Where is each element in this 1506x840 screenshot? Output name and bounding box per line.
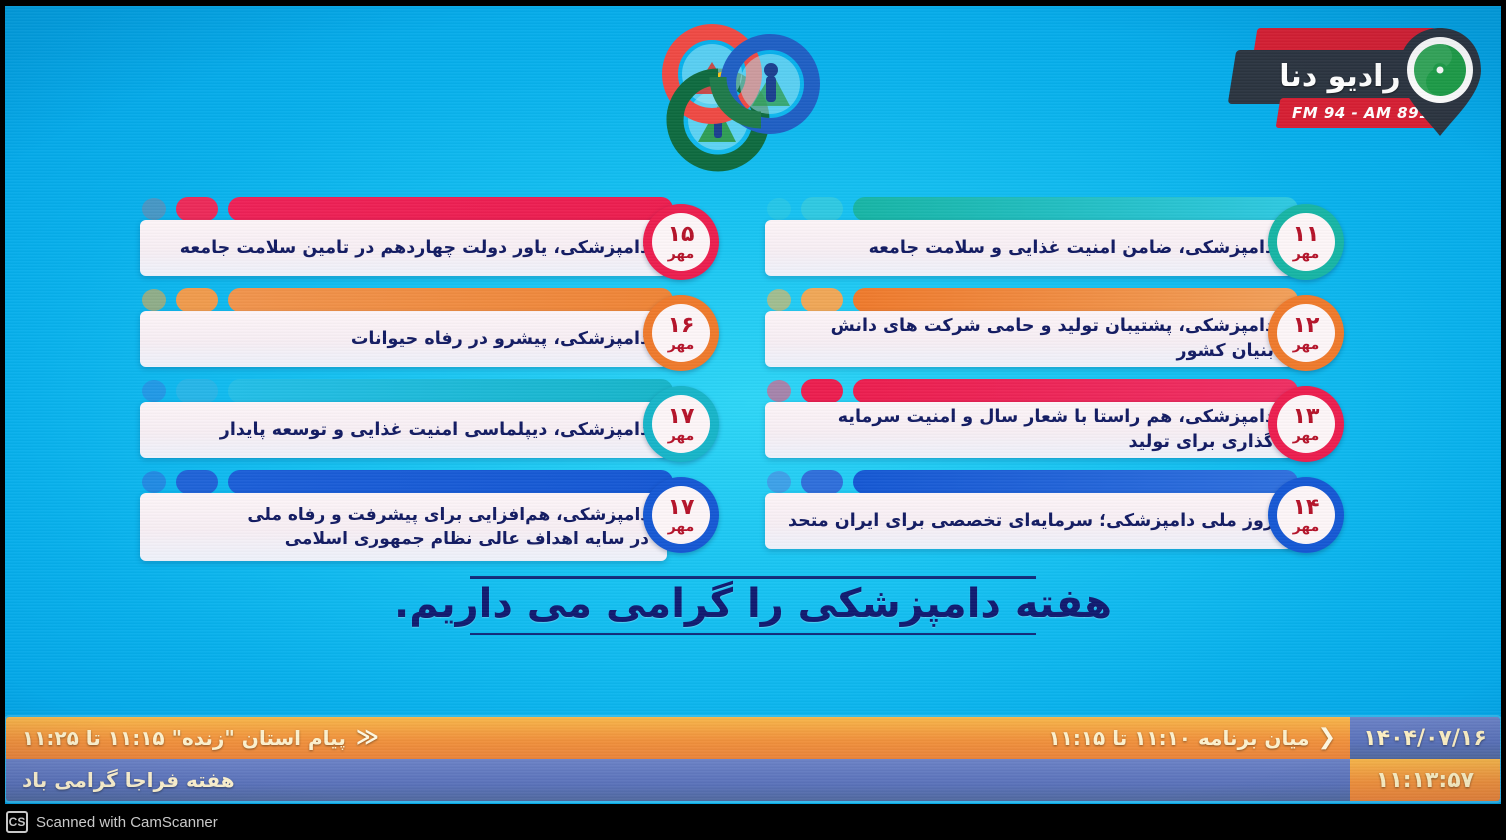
ticker-now-playing-label: پیام استان "زنده" ۱۱:۱۵ تا ۱۱:۲۵	[22, 726, 346, 750]
card-pill-decor	[176, 288, 218, 312]
card-dot-decor	[142, 289, 166, 311]
card-body: دامپزشکی، ضامن امنیت غذایی و سلامت جامعه	[765, 220, 1292, 276]
badge-day-number: ۱۷	[668, 497, 695, 519]
ticker-date: ۱۴۰۴/۰۷/۱۶	[1350, 717, 1500, 759]
card-title: دامپزشکی، هم‌افزایی برای پیشرفت و رفاه م…	[162, 503, 649, 551]
card-day-badge: ۱۲ مهر	[1268, 295, 1344, 371]
ticker-now-playing: ≪ پیام استان "زنده" ۱۱:۱۵ تا ۱۱:۲۵	[6, 717, 1038, 759]
frame-right	[1501, 0, 1506, 840]
camscanner-text: Scanned with CamScanner	[36, 814, 218, 831]
card-color-bar	[228, 288, 673, 312]
headline-text: هفته دامپزشکی را گرامی می داریم.	[394, 579, 1112, 631]
card-dot-decor	[767, 289, 791, 311]
card-pill-decor	[176, 379, 218, 403]
card-color-bar	[853, 379, 1298, 403]
badge-month-name: مهر	[1293, 429, 1320, 443]
letterbox-bottom	[0, 804, 1506, 840]
card-day-badge: ۱۳ مهر	[1268, 386, 1344, 462]
card-color-bar	[228, 470, 673, 494]
schedule-card[interactable]: دامپزشکی، هم‌افزایی برای پیشرفت و رفاه م…	[140, 469, 715, 561]
one-health-emblem-icon	[640, 22, 840, 172]
broadcast-ticker: ۱۴۰۴/۰۷/۱۶ ❮ میان برنامه ۱۱:۱۰ تا ۱۱:۱۵ …	[6, 717, 1500, 801]
frame-top	[0, 0, 1506, 6]
ticker-row-top: ۱۴۰۴/۰۷/۱۶ ❮ میان برنامه ۱۱:۱۰ تا ۱۱:۱۵ …	[6, 717, 1500, 759]
card-title: روز ملی دامپزشکی؛ سرمایه‌ای تخصصی برای ا…	[787, 509, 1274, 534]
schedule-card[interactable]: دامپزشکی، هم راستا با شعار سال و امنیت س…	[765, 378, 1340, 458]
card-title: دامپزشکی، پیشرو در رفاه حیوانات	[162, 327, 649, 352]
badge-month-name: مهر	[668, 429, 695, 443]
card-color-bar	[853, 470, 1298, 494]
card-day-badge: ۱۷ مهر	[643, 386, 719, 462]
card-pill-decor	[176, 470, 218, 494]
schedule-grid: دامپزشکی، ضامن امنیت غذایی و سلامت جامعه…	[140, 196, 1340, 566]
schedule-card[interactable]: دامپزشکی، دیپلماسی امنیت غذایی و توسعه پ…	[140, 378, 715, 458]
card-pill-decor	[176, 197, 218, 221]
ticker-marquee: هفته فراجا گرامی باد	[6, 759, 1350, 801]
schedule-card[interactable]: دامپزشکی، یاور دولت چهاردهم در تامین سلا…	[140, 196, 715, 276]
card-dot-decor	[767, 380, 791, 402]
radio-dena-logo: رادیو دنا FM 94 - AM 891	[1216, 24, 1488, 140]
headline-rule-top	[470, 576, 1036, 579]
card-body: دامپزشکی، پشتیبان تولید و حامی شرکت های …	[765, 311, 1292, 367]
frame-left	[0, 0, 5, 840]
ticker-marquee-label: هفته فراجا گرامی باد	[22, 768, 235, 792]
schedule-column-right: دامپزشکی، ضامن امنیت غذایی و سلامت جامعه…	[765, 196, 1340, 560]
card-color-bar	[853, 197, 1298, 221]
badge-month-name: مهر	[668, 520, 695, 534]
badge-day-number: ۱۳	[1293, 406, 1320, 428]
badge-day-number: ۱۷	[668, 406, 695, 428]
card-body: دامپزشکی، یاور دولت چهاردهم در تامین سلا…	[140, 220, 667, 276]
card-title: دامپزشکی، یاور دولت چهاردهم در تامین سلا…	[162, 236, 649, 261]
ticker-next-up-label: میان برنامه ۱۱:۱۰ تا ۱۱:۱۵	[1048, 726, 1309, 750]
card-title: دامپزشکی، ضامن امنیت غذایی و سلامت جامعه	[787, 236, 1274, 261]
card-body: دامپزشکی، هم راستا با شعار سال و امنیت س…	[765, 402, 1292, 458]
ticker-next-up: ❮ میان برنامه ۱۱:۱۰ تا ۱۱:۱۵	[1038, 717, 1350, 759]
card-dot-decor	[142, 471, 166, 493]
schedule-column-left: دامپزشکی، یاور دولت چهاردهم در تامین سلا…	[140, 196, 715, 572]
badge-day-number: ۱۱	[1293, 224, 1320, 246]
badge-day-number: ۱۲	[1293, 315, 1320, 337]
headline-rule-bottom	[470, 633, 1036, 635]
card-title: دامپزشکی، دیپلماسی امنیت غذایی و توسعه پ…	[162, 418, 649, 443]
card-dot-decor	[142, 198, 166, 220]
chevron-double-left-icon: ≪	[356, 727, 379, 749]
schedule-card[interactable]: دامپزشکی، پشتیبان تولید و حامی شرکت های …	[765, 287, 1340, 367]
card-body: دامپزشکی، هم‌افزایی برای پیشرفت و رفاه م…	[140, 493, 667, 561]
card-day-badge: ۱۵ مهر	[643, 204, 719, 280]
card-day-badge: ۱۱ مهر	[1268, 204, 1344, 280]
badge-day-number: ۱۶	[668, 315, 695, 337]
card-dot-decor	[767, 471, 791, 493]
card-pill-decor	[801, 470, 843, 494]
camscanner-watermark: CS Scanned with CamScanner	[6, 810, 218, 834]
radio-pin-icon	[1396, 26, 1484, 138]
card-pill-decor	[801, 288, 843, 312]
badge-day-number: ۱۴	[1293, 497, 1320, 519]
card-color-bar	[228, 379, 673, 403]
camscanner-logo-icon: CS	[6, 811, 28, 833]
card-color-bar	[228, 197, 673, 221]
ticker-clock: ۱۱:۱۳:۵۷	[1350, 759, 1500, 801]
card-pill-decor	[801, 197, 843, 221]
card-dot-decor	[767, 198, 791, 220]
badge-day-number: ۱۵	[668, 224, 695, 246]
schedule-card[interactable]: دامپزشکی، ضامن امنیت غذایی و سلامت جامعه…	[765, 196, 1340, 276]
schedule-card[interactable]: دامپزشکی، پیشرو در رفاه حیوانات ۱۶ مهر	[140, 287, 715, 367]
chevron-left-icon: ❮	[1318, 727, 1336, 749]
card-dot-decor	[142, 380, 166, 402]
headline-banner: هفته دامپزشکی را گرامی می داریم.	[0, 576, 1506, 635]
card-title: دامپزشکی، هم راستا با شعار سال و امنیت س…	[787, 405, 1274, 455]
ticker-row-bottom: ۱۱:۱۳:۵۷ هفته فراجا گرامی باد	[6, 759, 1500, 801]
badge-month-name: مهر	[668, 338, 695, 352]
card-pill-decor	[801, 379, 843, 403]
card-color-bar	[853, 288, 1298, 312]
card-day-badge: ۱۶ مهر	[643, 295, 719, 371]
card-body: روز ملی دامپزشکی؛ سرمایه‌ای تخصصی برای ا…	[765, 493, 1292, 549]
tv-screen: رادیو دنا FM 94 - AM 891 دامپزشکی، ضامن …	[0, 0, 1506, 840]
badge-month-name: مهر	[1293, 520, 1320, 534]
card-day-badge: ۱۷ مهر	[643, 477, 719, 553]
card-day-badge: ۱۴ مهر	[1268, 477, 1344, 553]
schedule-card[interactable]: روز ملی دامپزشکی؛ سرمایه‌ای تخصصی برای ا…	[765, 469, 1340, 549]
card-body: دامپزشکی، دیپلماسی امنیت غذایی و توسعه پ…	[140, 402, 667, 458]
badge-month-name: مهر	[1293, 338, 1320, 352]
card-title: دامپزشکی، پشتیبان تولید و حامی شرکت های …	[787, 314, 1274, 364]
card-body: دامپزشکی، پیشرو در رفاه حیوانات	[140, 311, 667, 367]
badge-month-name: مهر	[668, 247, 695, 261]
badge-month-name: مهر	[1293, 247, 1320, 261]
